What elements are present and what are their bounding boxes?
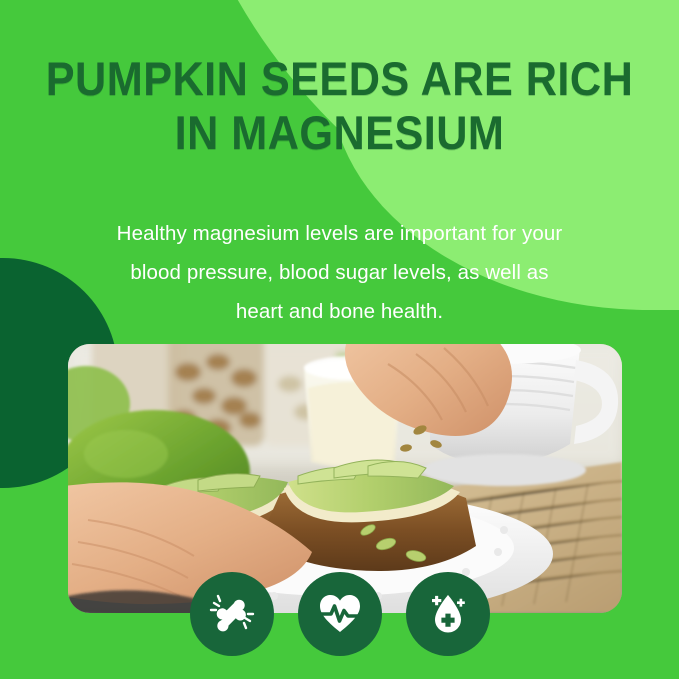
headline-line-1: Pumpkin Seeds Are Rich xyxy=(27,52,652,106)
benefit-badge-heart[interactable] xyxy=(298,572,382,656)
headline-line-2: In Magnesium xyxy=(27,106,652,160)
subtitle-line-2: blood pressure, blood sugar levels, as w… xyxy=(78,253,601,292)
benefit-icon-row xyxy=(0,572,679,656)
subtitle: Healthy magnesium levels are important f… xyxy=(78,214,601,331)
subtitle-line-1: Healthy magnesium levels are important f… xyxy=(78,214,601,253)
benefit-badge-bone[interactable] xyxy=(190,572,274,656)
heart-pulse-icon xyxy=(315,589,365,639)
poster-canvas: Pumpkin Seeds Are Rich In Magnesium Heal… xyxy=(0,0,679,679)
blood-drop-icon xyxy=(423,589,473,639)
bone-icon xyxy=(207,589,257,639)
subtitle-line-3: heart and bone health. xyxy=(78,292,601,331)
page-title: Pumpkin Seeds Are Rich In Magnesium xyxy=(27,52,652,160)
benefit-badge-blood-drop[interactable] xyxy=(406,572,490,656)
